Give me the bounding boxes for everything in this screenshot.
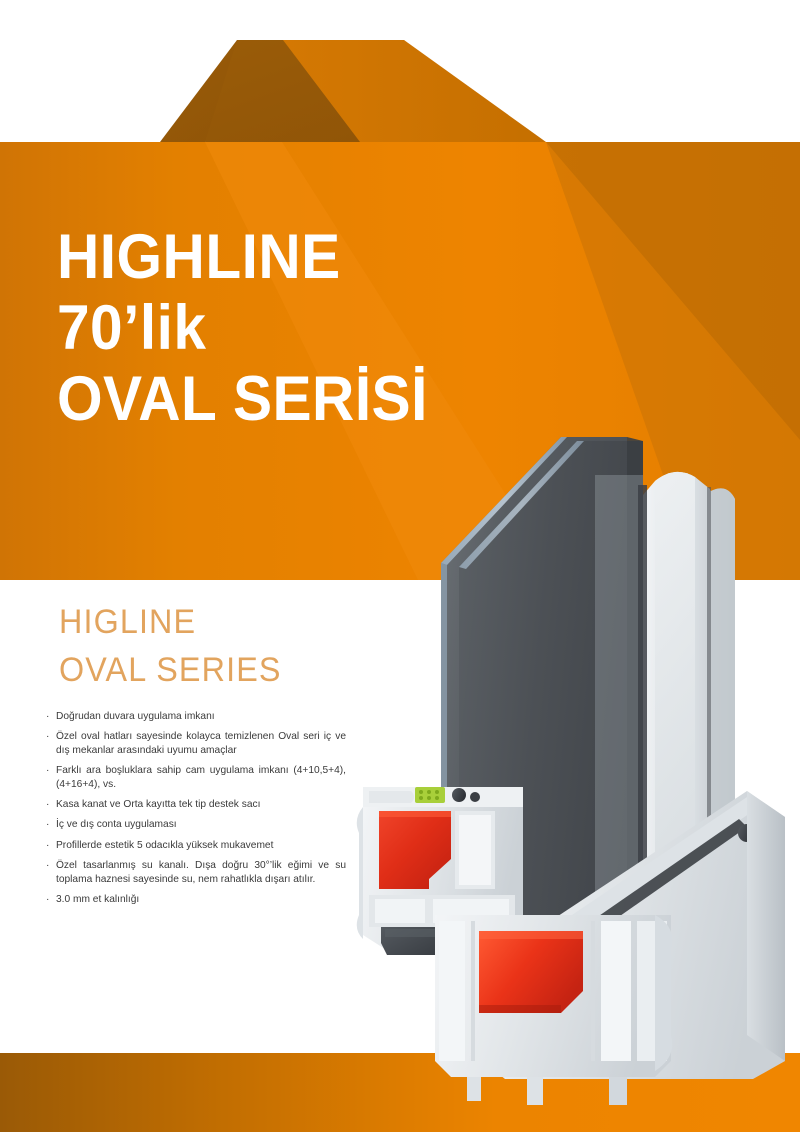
bullet-icon: ·: [46, 710, 49, 723]
list-item: · Doğrudan duvara uygulama imkanı: [46, 710, 346, 723]
list-item: · Özel oval hatları sayesinde kolayca te…: [46, 730, 346, 757]
bullet-icon: ·: [46, 798, 49, 811]
bullet-icon: ·: [46, 859, 49, 872]
list-item-text: Kasa kanat ve Orta kayıtta tek tip deste…: [56, 798, 346, 811]
list-item-text: Doğrudan duvara uygulama imkanı: [56, 710, 346, 723]
list-item-text: 3.0 mm et kalınlığı: [56, 893, 346, 906]
list-item-text: Farklı ara boşluklara sahip cam uygulama…: [56, 764, 346, 791]
subtitle-line-1: HIGLINE: [59, 598, 282, 646]
bullet-icon: ·: [46, 764, 49, 777]
bullet-icon: ·: [46, 730, 49, 743]
hero-title-block: HIGHLINE 70’lik OVAL SERİSİ: [57, 222, 456, 435]
window-profile-image: [355, 415, 800, 1105]
hero-title-line-2: 70’lik: [57, 293, 428, 364]
feature-list: · Doğrudan duvara uygulama imkanı · Özel…: [46, 710, 346, 906]
list-item-text: Özel tasarlanmış su kanalı. Dışa doğru 3…: [56, 859, 346, 886]
bullet-icon: ·: [46, 893, 49, 906]
list-item: · Profillerde estetik 5 odacıkla yüksek …: [46, 839, 346, 852]
subtitle-block: HIGLINE OVAL SERIES: [59, 598, 293, 694]
subtitle-line-2: OVAL SERIES: [59, 646, 282, 694]
hero-title-line-1: HIGHLINE: [57, 222, 428, 293]
list-item-text: Özel oval hatları sayesinde kolayca temi…: [56, 730, 346, 757]
list-item-text: İç ve dış conta uygulaması: [56, 818, 346, 831]
gasket-bulb: [452, 788, 466, 802]
list-item: · İç ve dış conta uygulaması: [46, 818, 346, 831]
list-item: · Kasa kanat ve Orta kayıtta tek tip des…: [46, 798, 346, 811]
bullet-icon: ·: [46, 839, 49, 852]
list-item: · Özel tasarlanmış su kanalı. Dışa doğru…: [46, 859, 346, 886]
bullet-icon: ·: [46, 818, 49, 831]
poster-page: HIGHLINE 70’lik OVAL SERİSİ HIGLINE OVAL…: [0, 0, 800, 1132]
window-profile-svg: [355, 415, 800, 1105]
glazing-bead-green: [415, 787, 445, 803]
steel-core-frame: [479, 931, 583, 1013]
list-item-text: Profillerde estetik 5 odacıkla yüksek mu…: [56, 839, 346, 852]
hero-title-line-3: OVAL SERİSİ: [57, 364, 428, 435]
list-item: · Farklı ara boşluklara sahip cam uygula…: [46, 764, 346, 791]
lower-frame-block: [435, 915, 672, 1105]
list-item: · 3.0 mm et kalınlığı: [46, 893, 346, 906]
